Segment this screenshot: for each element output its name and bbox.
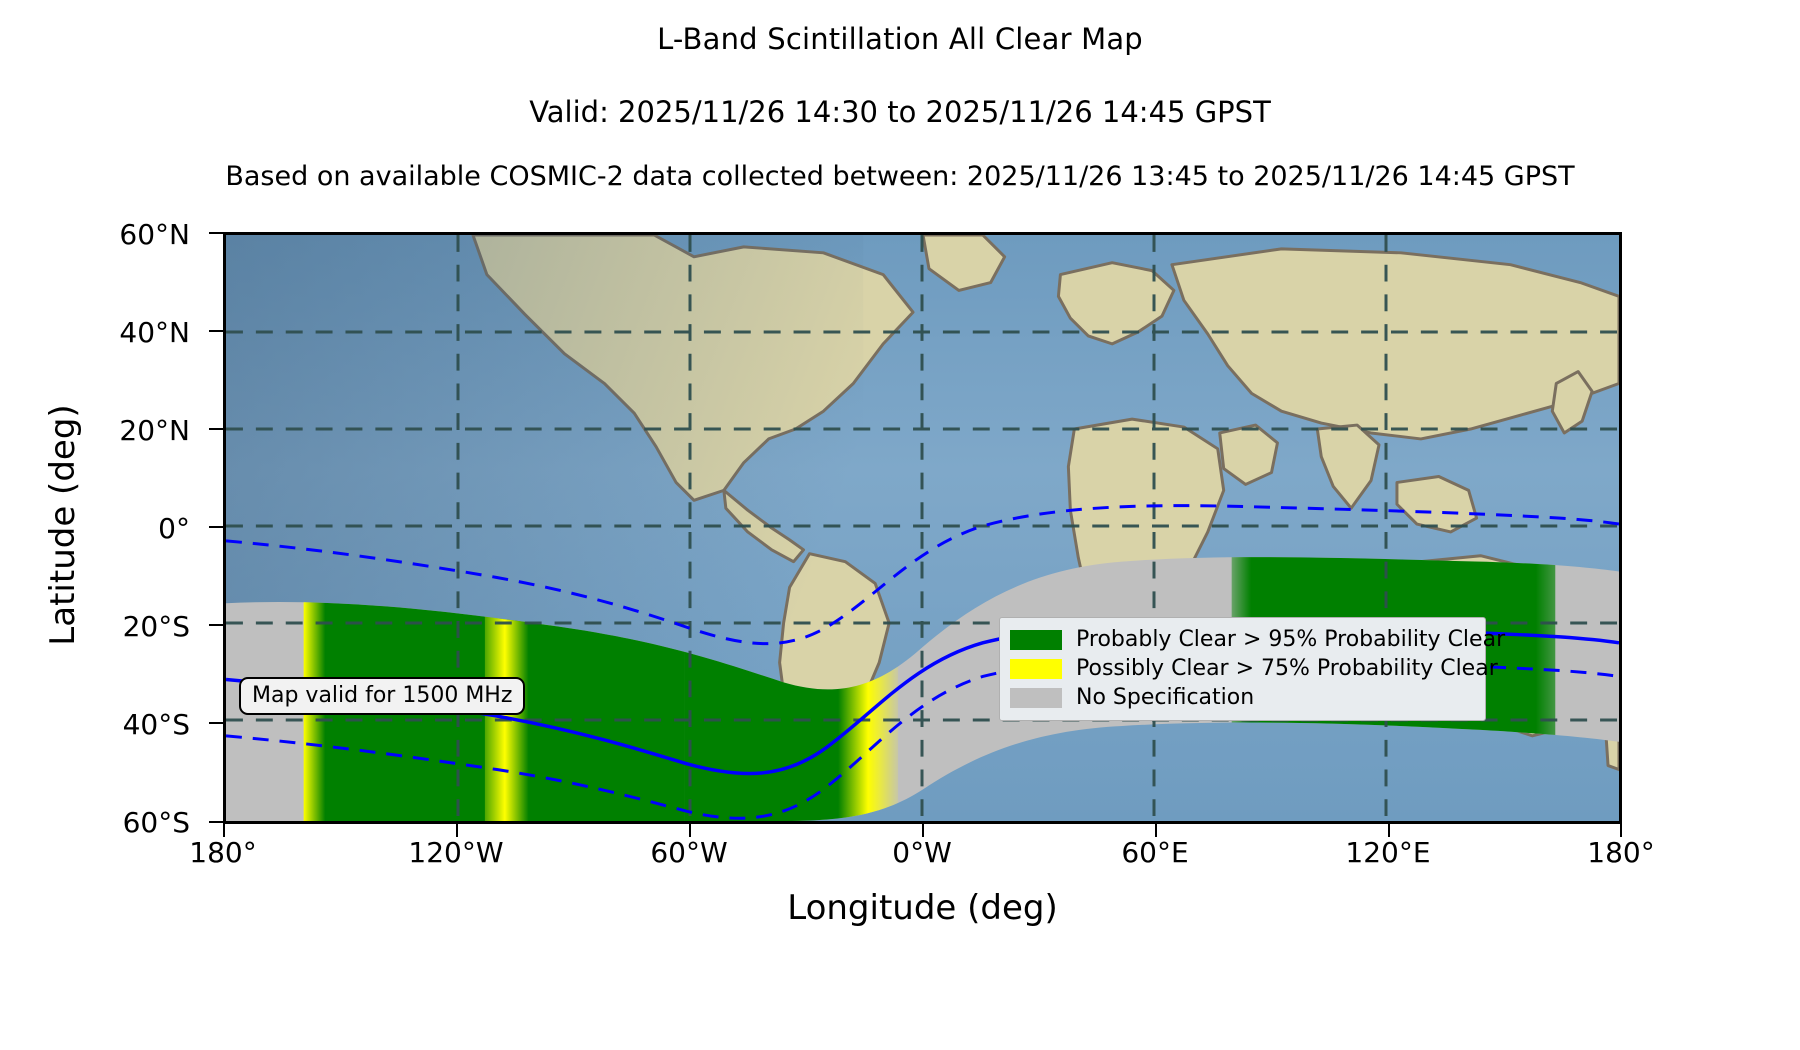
y-tick-label-60S: 60°S — [0, 806, 190, 839]
legend-swatch-probably-clear — [1010, 630, 1062, 650]
y-tick-mark — [209, 428, 223, 430]
map-legend: Probably Clear > 95% Probability Clear P… — [999, 617, 1486, 721]
data-source-subtitle: Based on available COSMIC-2 data collect… — [0, 161, 1800, 192]
y-tick-mark — [209, 330, 223, 332]
y-tick-mark — [209, 722, 223, 724]
frequency-annotation: Map valid for 1500 MHz — [239, 677, 525, 715]
x-tick-label-120E: 120°E — [1258, 836, 1518, 869]
y-tick-mark — [209, 821, 223, 823]
y-tick-mark — [209, 624, 223, 626]
scintillation-map-plot: Map valid for 1500 MHz Probably Clear > … — [223, 232, 1622, 824]
x-tick-label-180W: 180° — [93, 836, 353, 869]
legend-item-possibly-clear: Possibly Clear > 75% Probability Clear — [1010, 654, 1475, 683]
y-tick-label-40N: 40°N — [0, 316, 190, 349]
x-tick-label-0: 0°W — [792, 836, 1052, 869]
legend-item-probably-clear: Probably Clear > 95% Probability Clear — [1010, 625, 1475, 654]
x-tick-mark — [689, 824, 691, 837]
legend-swatch-no-specification — [1010, 688, 1062, 708]
y-tick-label-0: 0° — [0, 512, 190, 545]
y-tick-mark — [209, 232, 223, 234]
x-tick-mark — [1620, 824, 1622, 837]
y-tick-label-40S: 40°S — [0, 708, 190, 741]
legend-item-no-specification: No Specification — [1010, 683, 1475, 712]
y-tick-mark — [209, 526, 223, 528]
legend-label-probably-clear: Probably Clear > 95% Probability Clear — [1076, 627, 1505, 652]
valid-time-subtitle: Valid: 2025/11/26 14:30 to 2025/11/26 14… — [0, 95, 1800, 129]
x-tick-mark — [922, 824, 924, 837]
legend-swatch-possibly-clear — [1010, 659, 1062, 679]
x-tick-label-60W: 60°W — [559, 836, 819, 869]
x-tick-label-180E: 180° — [1491, 836, 1751, 869]
x-tick-label-60E: 60°E — [1025, 836, 1285, 869]
legend-label-no-specification: No Specification — [1076, 685, 1254, 710]
y-tick-label-60N: 60°N — [0, 218, 190, 251]
x-tick-mark — [223, 824, 225, 837]
magnetic-equator-lines — [226, 235, 1619, 821]
y-tick-label-20N: 20°N — [0, 414, 190, 447]
y-tick-label-20S: 20°S — [0, 610, 190, 643]
x-tick-mark — [456, 824, 458, 837]
x-axis-label: Longitude (deg) — [223, 888, 1622, 928]
chart-title: L-Band Scintillation All Clear Map — [0, 22, 1800, 56]
x-tick-mark — [1155, 824, 1157, 837]
legend-label-possibly-clear: Possibly Clear > 75% Probability Clear — [1076, 656, 1498, 681]
x-tick-mark — [1388, 824, 1390, 837]
x-tick-label-120W: 120°W — [326, 836, 586, 869]
